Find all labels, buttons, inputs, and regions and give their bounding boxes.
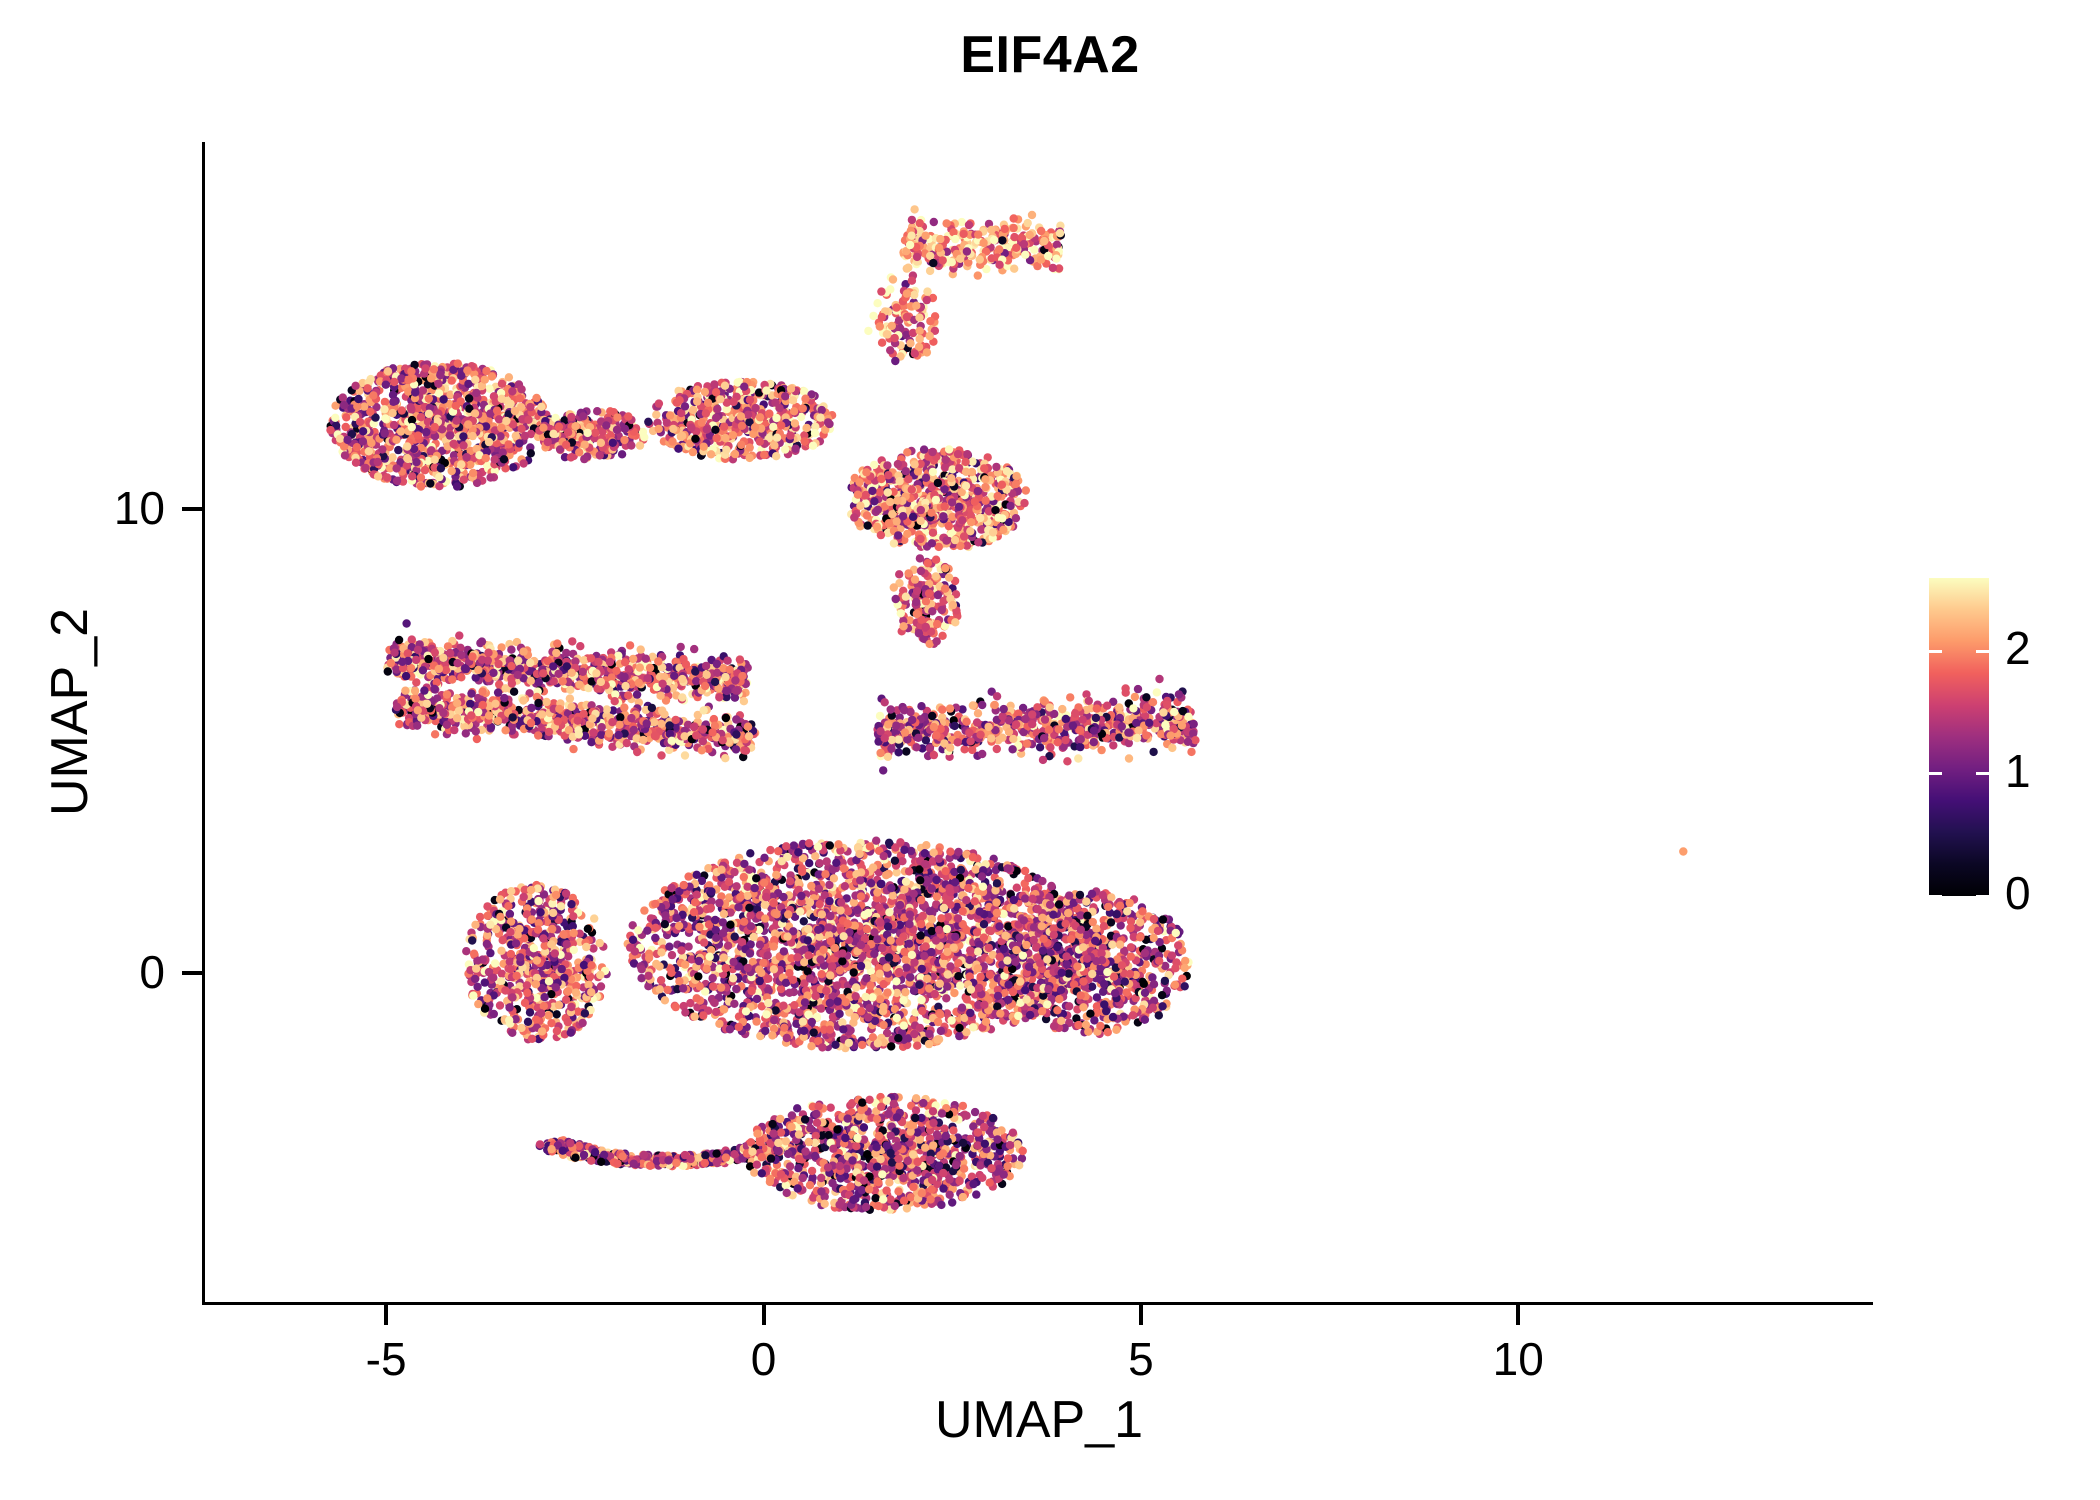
x-tick-label: 10 (1418, 1332, 1618, 1386)
x-tick-label: 0 (664, 1332, 864, 1386)
colorbar-tick-mark (1929, 650, 1942, 653)
x-tick-label: 5 (1041, 1332, 1241, 1386)
x-axis-label: UMAP_1 (205, 1390, 1873, 1450)
x-tick-mark (1139, 1305, 1143, 1325)
x-tick-label: -5 (286, 1332, 486, 1386)
x-tick-mark (384, 1305, 388, 1325)
colorbar-tick-mark (1929, 772, 1942, 775)
plot-panel (205, 142, 1873, 1302)
colorbar-tick-label: 2 (2005, 625, 2095, 671)
colorbar-tick-mark (1929, 895, 1942, 898)
colorbar-tick-label: 0 (2005, 870, 2095, 916)
colorbar-tick-mark (1976, 772, 1989, 775)
colorbar-tick-label: 1 (2005, 748, 2095, 794)
y-tick-mark (182, 971, 202, 975)
x-tick-mark (1516, 1305, 1520, 1325)
colorbar-gradient (1929, 578, 1989, 896)
colorbar-legend: 210 (1929, 578, 2089, 898)
x-tick-mark (762, 1305, 766, 1325)
y-tick-mark (182, 507, 202, 511)
page-title: EIF4A2 (0, 25, 2100, 85)
umap-feature-plot: EIF4A2 -50510 100 UMAP_1 UMAP_2 210 (0, 0, 2100, 1500)
colorbar-tick-mark (1976, 895, 1989, 898)
colorbar-tick-mark (1976, 650, 1989, 653)
y-axis-label: UMAP_2 (40, 312, 100, 1112)
scatter-points-layer (205, 142, 1873, 1302)
